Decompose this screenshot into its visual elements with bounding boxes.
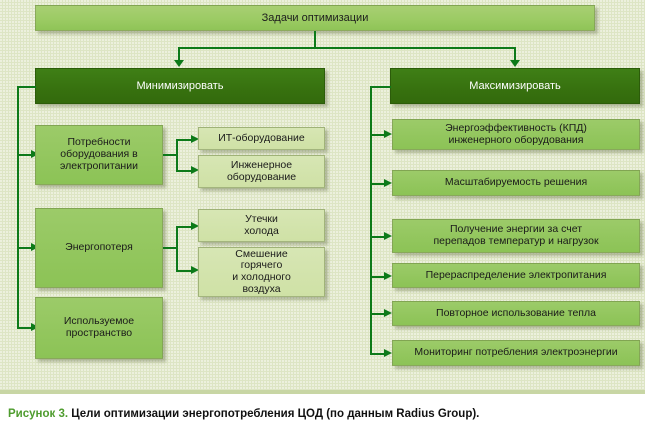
line-2: оборудование (227, 171, 296, 183)
line-1: Используемое (64, 315, 134, 327)
connector-minimize-spine (17, 86, 19, 328)
arrow-right-icon-x1 (384, 130, 392, 138)
line-1: Утечки (245, 213, 278, 225)
connector-minimize-spine-top (17, 86, 36, 88)
connector-maximize-spine-top (370, 86, 391, 88)
connector-pd-bus (176, 139, 178, 170)
figure-label: Рисунок 3. (8, 408, 68, 420)
connector-maximize-item1 (370, 134, 385, 136)
node-minimize-label: Минимизировать (40, 80, 320, 92)
node-energy-harvesting-label: Получение энергии за счет перепадов темп… (397, 224, 635, 248)
node-minimize: Минимизировать (35, 68, 325, 104)
caption-divider (0, 390, 645, 394)
line-4: воздуха (242, 283, 280, 295)
connector-maximize-item2 (370, 183, 385, 185)
node-air-mixing: Смешение горячего и холодного воздуха (198, 247, 325, 297)
line-3: электропитании (60, 160, 138, 172)
node-energy-efficiency-label: Энергоэффективность (КПД) инженерного об… (397, 123, 635, 147)
node-maximize: Максимизировать (390, 68, 640, 104)
line-2: пространство (66, 327, 132, 339)
connector-pd-child2 (176, 170, 192, 172)
connector-maximize-item6 (370, 353, 385, 355)
connector-to-minimize (178, 47, 180, 61)
node-used-space: Используемое пространство (35, 297, 163, 359)
arrow-right-icon-x5 (384, 309, 392, 317)
line-2: горячего (241, 259, 283, 271)
node-energy-efficiency: Энергоэффективность (КПД) инженерного об… (392, 119, 640, 150)
arrow-right-icon-x6 (384, 349, 392, 357)
node-used-space-label: Используемое пространство (40, 316, 158, 340)
node-maximize-label: Максимизировать (395, 80, 635, 92)
line-1: Получение энергии за счет (450, 223, 582, 235)
connector-el-child2 (176, 270, 192, 272)
connector-maximize-item3 (370, 236, 385, 238)
arrow-down-icon-maximize (510, 60, 520, 67)
node-energy-loss-label: Энергопотеря (40, 242, 158, 254)
node-heat-reuse: Повторное использование тепла (392, 301, 640, 326)
connector-pd-child1 (176, 139, 192, 141)
node-root: Задачи оптимизации (35, 5, 595, 31)
connector-maximize-item4 (370, 276, 385, 278)
node-it-equipment: ИТ-оборудование (198, 127, 325, 150)
node-it-equipment-label: ИТ-оборудование (203, 133, 320, 145)
node-power-monitoring: Мониторинг потребления электроэнергии (392, 340, 640, 366)
figure-caption: Рисунок 3. Цели оптимизации энергопотреб… (8, 408, 638, 420)
figure-caption-text: Цели оптимизации энергопотребления ЦОД (… (71, 408, 479, 420)
line-2: оборудования в (60, 148, 137, 160)
node-power-redistribution-label: Перераспределение электропитания (397, 270, 635, 282)
node-cold-leaks: Утечки холода (198, 209, 325, 242)
node-engineering-equipment-label: Инженерное оборудование (203, 160, 320, 184)
line-1: Потребности (67, 136, 130, 148)
node-air-mixing-label: Смешение горячего и холодного воздуха (203, 249, 320, 296)
connector-minimize-item3 (17, 327, 32, 329)
connector-minimize-item2 (17, 247, 32, 249)
line-2: инженерного оборудования (449, 134, 584, 146)
node-scalability-label: Масштабируемость решения (397, 177, 635, 189)
node-power-redistribution: Перераспределение электропитания (392, 263, 640, 288)
node-power-demand: Потребности оборудования в электропитани… (35, 125, 163, 185)
node-root-label: Задачи оптимизации (40, 12, 590, 24)
line-3: и холодного (232, 271, 291, 283)
connector-to-maximize (514, 47, 516, 61)
arrow-right-icon-x4 (384, 272, 392, 280)
arrow-down-icon-minimize (174, 60, 184, 67)
connector-root-stem (314, 31, 316, 47)
arrow-right-icon-x3 (384, 232, 392, 240)
node-power-monitoring-label: Мониторинг потребления электроэнергии (397, 347, 635, 359)
line-1: Смешение (235, 248, 287, 260)
connector-el-child1 (176, 226, 192, 228)
connector-el-bus (176, 226, 178, 270)
connector-pd-stem (163, 154, 176, 156)
node-energy-harvesting: Получение энергии за счет перепадов темп… (392, 219, 640, 253)
connector-minimize-item1 (17, 154, 32, 156)
connector-root-bus (178, 47, 515, 49)
node-scalability: Масштабируемость решения (392, 170, 640, 196)
node-energy-loss: Энергопотеря (35, 208, 163, 288)
node-engineering-equipment: Инженерное оборудование (198, 155, 325, 188)
diagram-canvas: Задачи оптимизации Минимизировать П (0, 0, 645, 390)
node-power-demand-label: Потребности оборудования в электропитани… (40, 137, 158, 172)
line-2: перепадов температур и нагрузок (433, 235, 598, 247)
line-1: Энергоэффективность (КПД) (445, 122, 587, 134)
node-heat-reuse-label: Повторное использование тепла (397, 308, 635, 320)
line-2: холода (244, 225, 279, 237)
node-cold-leaks-label: Утечки холода (203, 214, 320, 238)
connector-maximize-item5 (370, 313, 385, 315)
line-1: Инженерное (231, 159, 292, 171)
connector-el-stem (163, 247, 176, 249)
figure-container: Задачи оптимизации Минимизировать П (0, 0, 645, 436)
arrow-right-icon-x2 (384, 179, 392, 187)
